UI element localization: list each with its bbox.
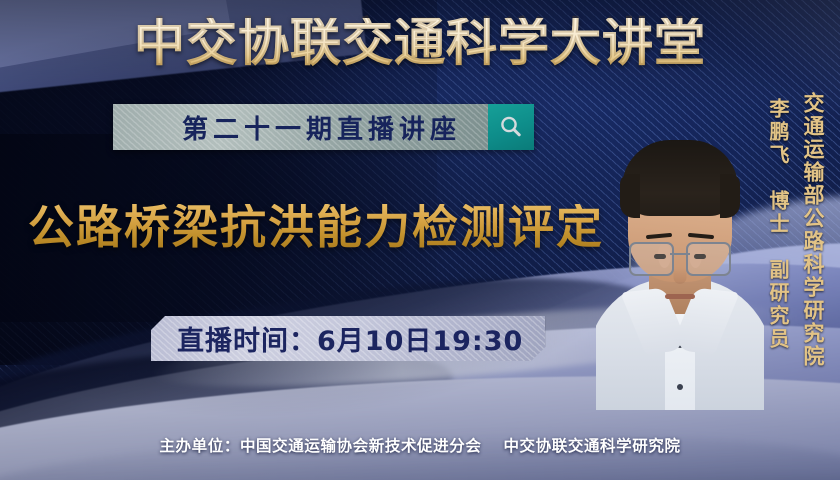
glasses-bridge — [670, 253, 690, 255]
speaker-portrait — [596, 110, 764, 410]
footer-organizer-2: 中交协联交通科学研究院 — [503, 434, 680, 456]
search-icon-box[interactable] — [488, 104, 534, 150]
live-time-text: 直播时间：6月10日19:30 — [177, 319, 523, 358]
subtitle-bar: 第二十一期直播讲座 — [113, 104, 534, 150]
footer-prefix: 主办单位： — [159, 434, 240, 456]
page-title: 中交协联交通科学大讲堂 — [0, 18, 840, 69]
live-time-badge: 直播时间：6月10日19:30 — [151, 316, 545, 361]
speaker-affiliation: 交通运输部公路科学研究院 — [798, 92, 828, 368]
portrait-nose — [674, 268, 687, 284]
subtitle-label: 第二十一期直播讲座 — [140, 109, 461, 146]
portrait-brow-left — [646, 233, 672, 239]
portrait-brow-right — [688, 233, 714, 239]
speaker-name: 李鹏飞 博士 副研究员 — [764, 98, 793, 351]
portrait-hair — [622, 140, 738, 216]
lecture-headline: 公路桥梁抗洪能力检测评定 — [28, 204, 604, 250]
search-icon — [498, 114, 524, 140]
portrait-button-2 — [677, 384, 683, 390]
footer-organizers: 主办单位：中国交通运输协会新技术促进分会中交协联交通科学研究院 — [0, 434, 840, 456]
glasses-lens-right — [686, 242, 731, 276]
poster-root: 中交协联交通科学大讲堂 第二十一期直播讲座 公路桥梁抗洪能力检测评定 直播时间：… — [0, 0, 840, 480]
footer-organizer-1: 中国交通运输协会新技术促进分会 — [240, 434, 482, 456]
portrait-mouth — [665, 294, 695, 299]
glasses-lens-left — [629, 242, 674, 276]
subtitle-bar-body: 第二十一期直播讲座 — [113, 104, 488, 150]
